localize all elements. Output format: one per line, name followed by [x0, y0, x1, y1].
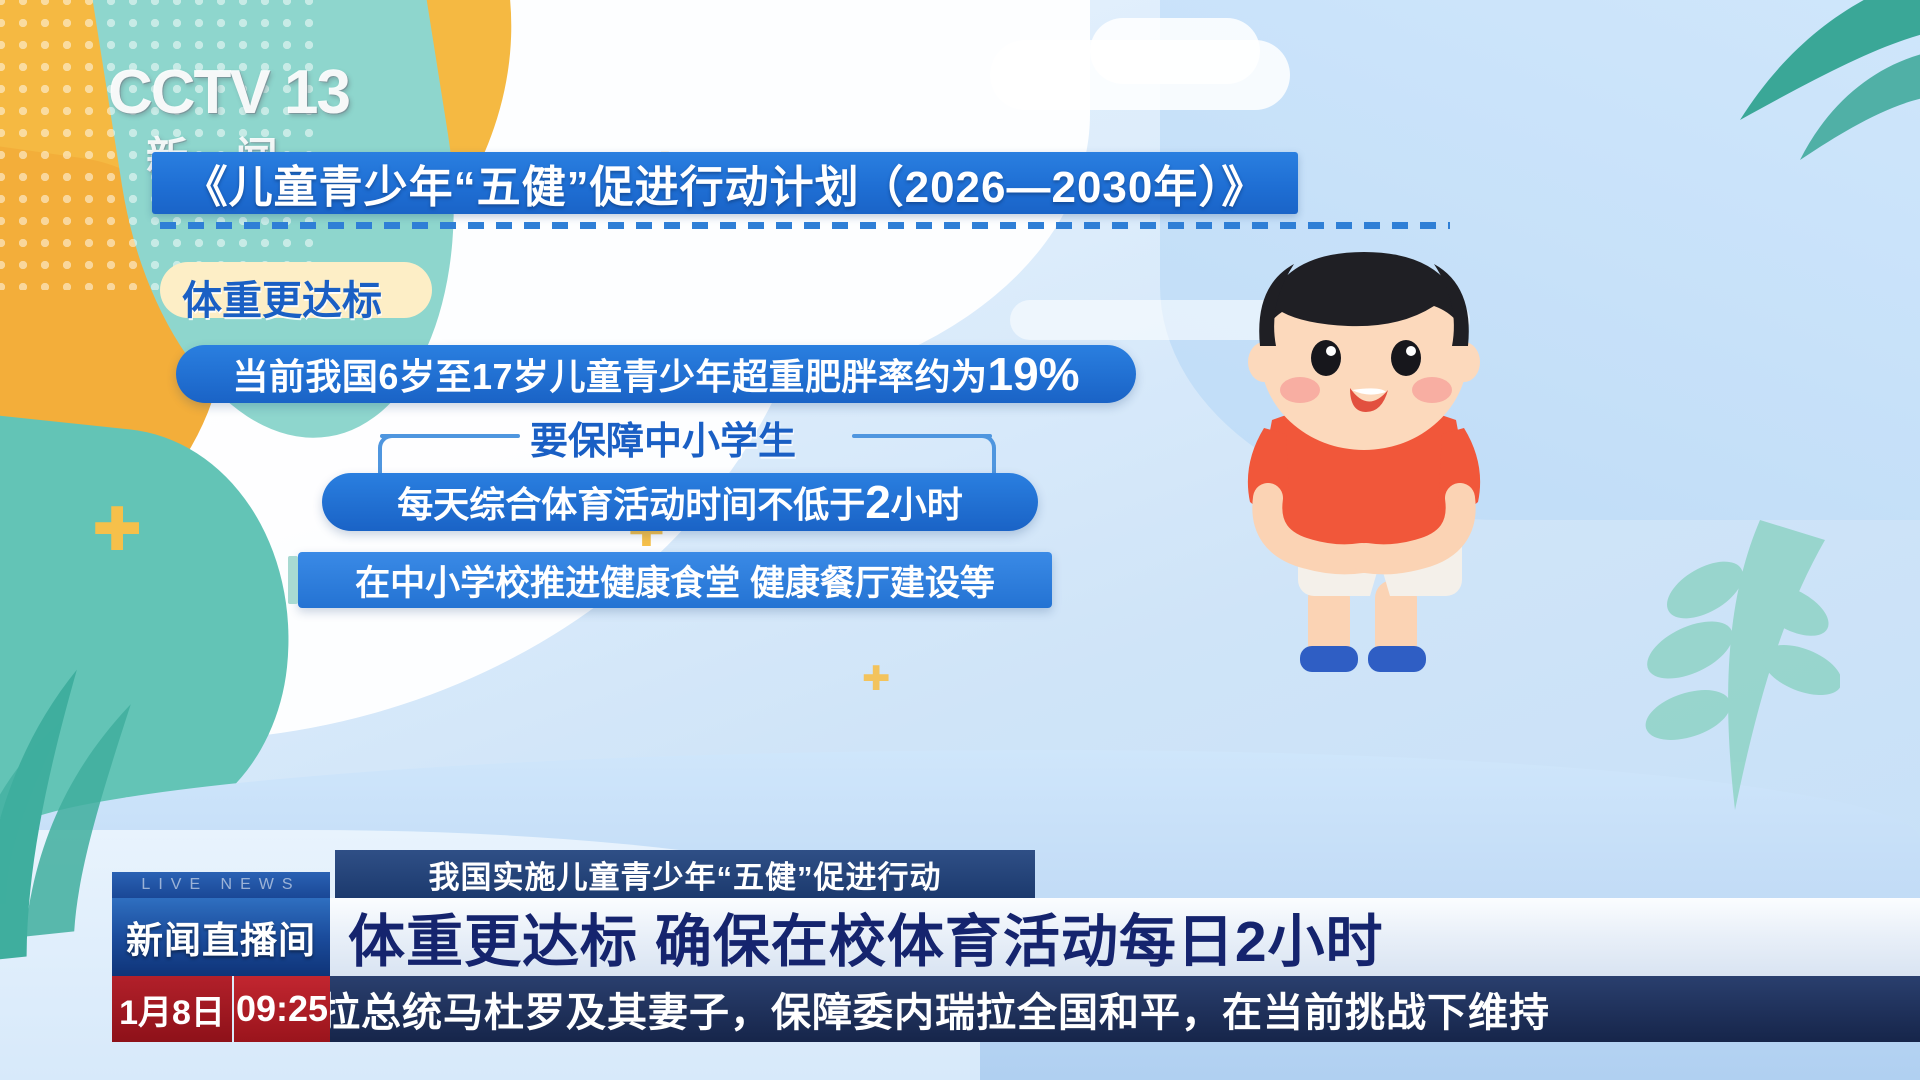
live-tag: LIVE NEWS — [112, 872, 330, 898]
leaf-icon — [1640, 0, 1920, 220]
cloud-icon — [1090, 18, 1260, 84]
program-name: 新闻直播间 — [126, 910, 316, 964]
lower-third-subtitle-bar: 我国实施儿童青少年“五健”促进行动 — [335, 850, 1035, 898]
stat-bar1-text: 当前我国6岁至17岁儿童青少年超重肥胖率约为 — [232, 348, 987, 400]
stat-bar2-unit: 小时 — [891, 476, 963, 528]
program-name-badge: 新闻直播间 — [112, 898, 330, 976]
stat-bar1-value: 19% — [988, 347, 1080, 401]
headline-title: 《儿童青少年“五健”促进行动计划（2026—2030年）》 — [184, 151, 1267, 215]
dashed-divider — [160, 222, 1450, 229]
sparkle-icon: ✚ — [862, 662, 891, 696]
channel-logo-text: CCTV 13 — [108, 62, 349, 124]
news-ticker-text: 拉总统马杜罗及其妻子，保障委内瑞拉全国和平，在当前挑战下维持 — [330, 980, 1550, 1038]
bracket-line-left — [380, 434, 520, 438]
child-illustration — [1160, 250, 1560, 680]
bracket-line-right — [852, 434, 992, 438]
lower-third-headline-bar: 体重更达标 确保在校体育活动每日2小时 — [330, 898, 1920, 976]
headline-banner: 《儿童青少年“五健”促进行动计划（2026—2030年）》 — [152, 152, 1298, 214]
lower-third-headline: 体重更达标 确保在校体育活动每日2小时 — [330, 896, 1384, 978]
stat-bar2-value: 2 — [865, 475, 891, 529]
stat-bar-healthy-canteen: 在中小学校推进健康食堂 健康餐厅建设等 — [298, 552, 1052, 608]
section-chip: 体重更达标 — [160, 262, 432, 318]
stat-bar-daily-activity: 每天综合体育活动时间不低于2小时 — [322, 473, 1038, 531]
stat-bar3-text: 在中小学校推进健康食堂 健康餐厅建设等 — [355, 555, 995, 606]
leaf-icon — [1610, 520, 1840, 820]
section-chip-label: 体重更达标 — [182, 268, 382, 326]
date-badge: 1月8日 — [112, 976, 232, 1042]
broadcast-screen: ✚ ✚ ✚ ✚ CCTV 13 新 闻 《儿童青少年“五健”促进行动计划（202… — [0, 0, 1920, 1080]
stat-bar-obesity-rate: 当前我国6岁至17岁儿童青少年超重肥胖率约为19% — [176, 345, 1136, 403]
bracket-label: 要保障中小学生 — [530, 410, 796, 465]
news-ticker: 拉总统马杜罗及其妻子，保障委内瑞拉全国和平，在当前挑战下维持 — [330, 976, 1920, 1042]
sparkle-icon: ✚ — [92, 500, 142, 560]
time-badge: 09:25 — [234, 976, 330, 1042]
stat-bar2-text: 每天综合体育活动时间不低于 — [397, 476, 865, 528]
lower-third-subtitle: 我国实施儿童青少年“五健”促进行动 — [429, 852, 942, 897]
